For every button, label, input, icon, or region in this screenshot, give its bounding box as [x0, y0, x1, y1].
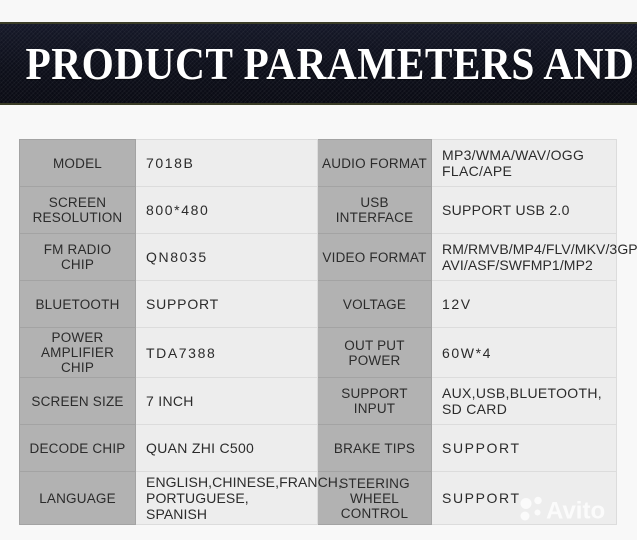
spec-value-output-power: 60W*4: [432, 328, 617, 378]
spec-value-audio-format: MP3/WMA/WAV/OGG FLAC/APE: [432, 140, 617, 187]
table-row: FM RADIO CHIP QN8035 VIDEO FORMAT RM/RMV…: [20, 234, 617, 281]
spec-value-power-amplifier-chip: TDA7388: [136, 328, 318, 378]
spec-label-screen-size: SCREEN SIZE: [20, 378, 136, 425]
spec-value-decode-chip: QUAN ZHI C500: [136, 425, 318, 472]
spec-value-voltage: 12V: [432, 281, 617, 328]
table-row: LANGUAGE ENGLISH,CHINESE,FRANCH, PORTUGU…: [20, 472, 617, 525]
spec-label-bluetooth: BLUETOOTH: [20, 281, 136, 328]
spec-value-usb-interface: SUPPORT USB 2.0: [432, 187, 617, 234]
spec-label-power-amplifier-chip: POWER AMPLIFIER CHIP: [20, 328, 136, 378]
spec-value-brake-tips: SUPPORT: [432, 425, 617, 472]
spec-label-video-format: VIDEO FORMAT: [318, 234, 432, 281]
spec-label-model: MODEL: [20, 140, 136, 187]
table-row: MODEL 7018B AUDIO FORMAT MP3/WMA/WAV/OGG…: [20, 140, 617, 187]
spec-value-bluetooth: SUPPORT: [136, 281, 318, 328]
header-banner: PRODUCT PARAMETERS AND DETAILS: [0, 22, 637, 105]
spec-label-output-power: OUT PUT POWER: [318, 328, 432, 378]
spec-value-screen-resolution: 800*480: [136, 187, 318, 234]
spec-value-model: 7018B: [136, 140, 318, 187]
table-row: SCREEN RESOLUTION 800*480 USB INTERFACE …: [20, 187, 617, 234]
spec-label-fm-radio-chip: FM RADIO CHIP: [20, 234, 136, 281]
spec-label-support-input: SUPPORT INPUT: [318, 378, 432, 425]
spec-label-brake-tips: BRAKE TIPS: [318, 425, 432, 472]
spec-value-fm-radio-chip: QN8035: [136, 234, 318, 281]
spec-label-decode-chip: DECODE CHIP: [20, 425, 136, 472]
table-row: SCREEN SIZE 7 INCH SUPPORT INPUT AUX,USB…: [20, 378, 617, 425]
specification-table: MODEL 7018B AUDIO FORMAT MP3/WMA/WAV/OGG…: [19, 139, 617, 525]
spec-value-video-format: RM/RMVB/MP4/FLV/MKV/3GP AVI/ASF/SWFMP1/M…: [432, 234, 617, 281]
spec-label-language: LANGUAGE: [20, 472, 136, 525]
table-row: BLUETOOTH SUPPORT VOLTAGE 12V: [20, 281, 617, 328]
spec-label-screen-resolution: SCREEN RESOLUTION: [20, 187, 136, 234]
spec-value-support-input: AUX,USB,BLUETOOTH, SD CARD: [432, 378, 617, 425]
spec-value-steering-wheel-control: SUPPORT: [432, 472, 617, 525]
product-spec-page: PRODUCT PARAMETERS AND DETAILS MODEL 701…: [0, 0, 637, 540]
spec-value-language: ENGLISH,CHINESE,FRANCH, PORTUGUESE, SPAN…: [136, 472, 318, 525]
table-row: DECODE CHIP QUAN ZHI C500 BRAKE TIPS SUP…: [20, 425, 617, 472]
spec-label-usb-interface: USB INTERFACE: [318, 187, 432, 234]
table-row: POWER AMPLIFIER CHIP TDA7388 OUT PUT POW…: [20, 328, 617, 378]
spec-label-voltage: VOLTAGE: [318, 281, 432, 328]
page-title: PRODUCT PARAMETERS AND DETAILS: [25, 40, 611, 88]
spec-value-screen-size: 7 INCH: [136, 378, 318, 425]
spec-label-audio-format: AUDIO FORMAT: [318, 140, 432, 187]
